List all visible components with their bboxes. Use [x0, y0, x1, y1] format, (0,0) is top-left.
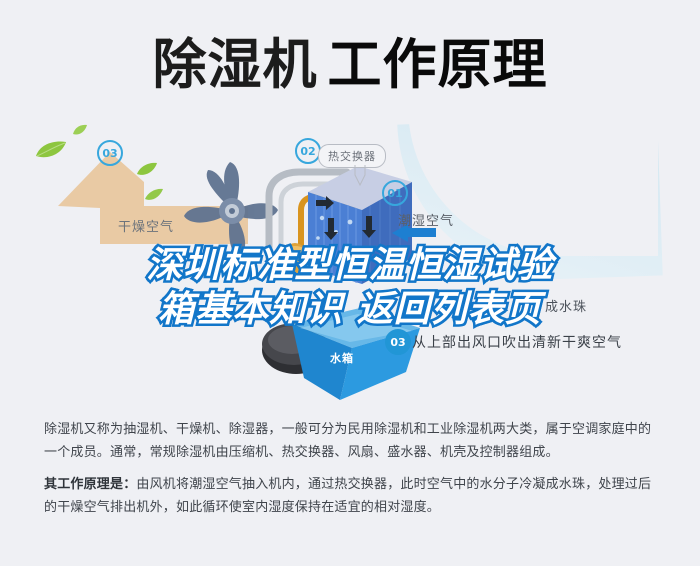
- callout-pointer-icon: [353, 165, 367, 187]
- page-title: 除湿机工作原理: [0, 26, 700, 104]
- dehumidifier-diagram: 水箱 03 02 01 03 热交换器 干燥空气 潮湿空气 成水珠 从上部出风口…: [0, 118, 700, 400]
- title-text: 除湿机工作原理: [153, 38, 548, 92]
- paragraph-2: 其工作原理是：由风机将潮湿空气抽入机内，通过热交换器，此时空气中的水分子冷凝成水…: [44, 473, 658, 519]
- water-tank-label: 水箱: [330, 350, 354, 366]
- badge-02-heat-exchanger: 02: [295, 138, 321, 164]
- badge-01-humid-air: 01: [382, 180, 408, 206]
- note-dry-air-outlet: 从上部出风口吹出清新干爽空气: [412, 332, 622, 352]
- article-body: 除湿机又称为抽湿机、干燥机、除湿器，一般可分为民用除湿机和工业除湿机两大类，属于…: [44, 418, 658, 528]
- title-part-2: 工作原理: [328, 33, 548, 96]
- paragraph-2-lead: 其工作原理是：: [44, 477, 136, 492]
- badge-03-dry-air: 03: [97, 140, 123, 166]
- heat-exchanger-callout: 热交换器: [318, 144, 386, 168]
- label-condense: 成水珠: [545, 296, 587, 315]
- leaf-icon: [34, 140, 68, 160]
- paragraph-1: 除湿机又称为抽湿机、干燥机、除湿器，一般可分为民用除湿机和工业除湿机两大类，属于…: [44, 418, 658, 464]
- label-dry-air: 干燥空气: [118, 216, 174, 235]
- badge-03-note: 03: [385, 329, 411, 355]
- title-part-1: 除湿机: [153, 33, 318, 96]
- page-root: 除湿机工作原理: [0, 0, 700, 566]
- leaf-icon: [144, 188, 164, 202]
- label-humid-air: 潮湿空气: [398, 210, 454, 229]
- leaf-icon: [136, 162, 158, 177]
- leaf-icon: [72, 124, 88, 136]
- paragraph-2-rest: 由风机将潮湿空气抽入机内，通过热交换器，此时空气中的水分子冷凝成水珠，处理过后的…: [44, 477, 651, 515]
- humid-air-stream-cutout: [408, 118, 658, 256]
